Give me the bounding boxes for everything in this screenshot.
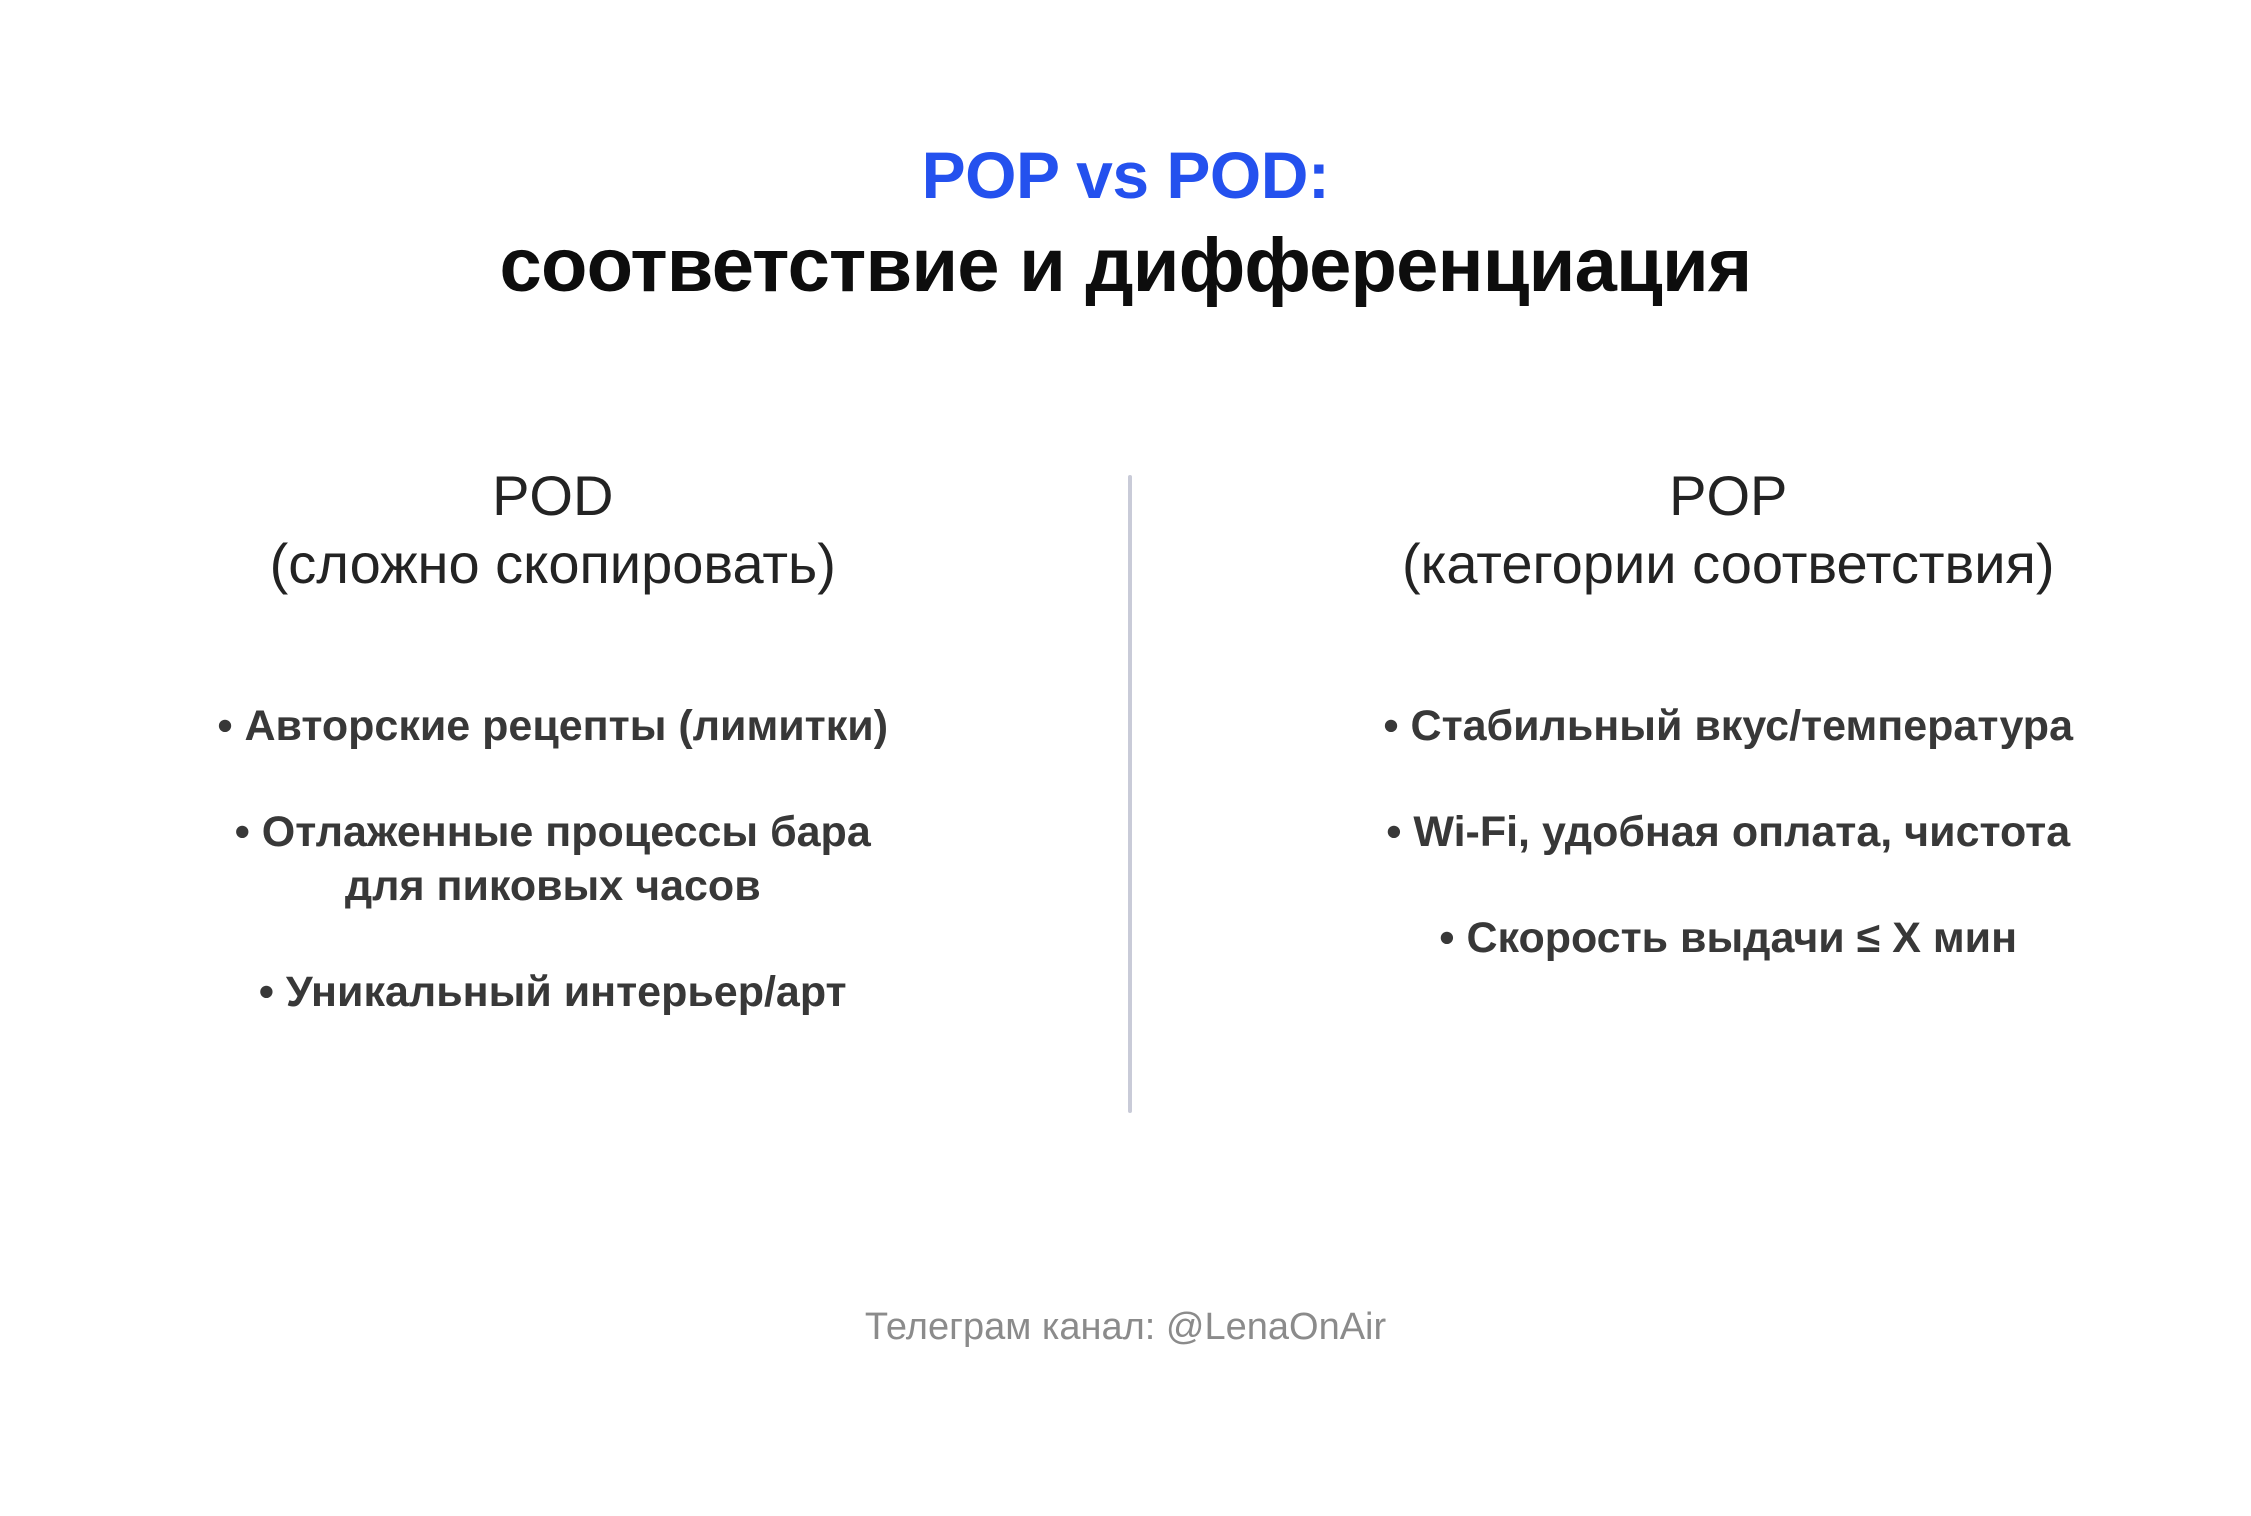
list-item: • Скорость выдачи ≤ X мин: [1266, 911, 2192, 965]
list-item: • Отлаженные процессы бара для пиковых ч…: [90, 805, 1016, 913]
title-line-primary: POP vs POD:: [0, 140, 2251, 211]
column-pop-title: POP: [1402, 462, 2054, 530]
column-pop-header: POP (категории соответствия): [1402, 462, 2054, 599]
column-pod-bullet-list: • Авторские рецепты (лимитки) • Отлаженн…: [90, 699, 1016, 1020]
bullet-dot-icon: •: [235, 808, 250, 856]
slide-footer: Телеграм канал: @LenaOnAir: [0, 1305, 2251, 1351]
list-item: • Стабильный вкус/температура: [1266, 699, 2192, 753]
column-pod-title: POD: [270, 462, 836, 530]
column-pod-header: POD (сложно скопировать): [270, 462, 836, 599]
telegram-channel-label: Телеграм канал: @LenaOnAir: [865, 1306, 1386, 1348]
column-pod: POD (сложно скопировать) • Авторские рец…: [0, 462, 1146, 1019]
slide-title: POP vs POD: соответствие и дифференциаци…: [0, 140, 2251, 307]
title-line-secondary: соответствие и дифференциация: [0, 225, 2251, 307]
slide-canvas: POP vs POD: соответствие и дифференциаци…: [0, 0, 2251, 1516]
column-pop-subtitle: (категории соответствия): [1402, 530, 2054, 598]
list-item-label: Авторские рецепты (лимитки): [244, 702, 888, 750]
bullet-dot-icon: •: [259, 968, 274, 1016]
bullet-dot-icon: •: [217, 702, 232, 750]
list-item-label: Стабильный вкус/температура: [1411, 702, 2073, 750]
bullet-dot-icon: •: [1439, 914, 1454, 962]
list-item-label: Wi-Fi, удобная оплата, чистота: [1413, 808, 2070, 856]
comparison-columns: POD (сложно скопировать) • Авторские рец…: [0, 462, 2251, 1019]
bullet-dot-icon: •: [1384, 702, 1399, 750]
column-pop-bullet-list: • Стабильный вкус/температура • Wi-Fi, у…: [1266, 699, 2192, 966]
column-pop: POP (категории соответствия) • Стабильны…: [1146, 462, 2251, 965]
list-item-label: Скорость выдачи ≤ X мин: [1466, 914, 2017, 962]
list-item: • Уникальный интерьер/арт: [90, 965, 1016, 1019]
list-item-label: Уникальный интерьер/арт: [286, 968, 847, 1016]
column-pod-subtitle: (сложно скопировать): [270, 530, 836, 598]
list-item-label: Отлаженные процессы бара для пиковых час…: [262, 808, 871, 910]
list-item: • Wi-Fi, удобная оплата, чистота: [1266, 805, 2192, 859]
bullet-dot-icon: •: [1386, 808, 1401, 856]
list-item: • Авторские рецепты (лимитки): [90, 699, 1016, 753]
